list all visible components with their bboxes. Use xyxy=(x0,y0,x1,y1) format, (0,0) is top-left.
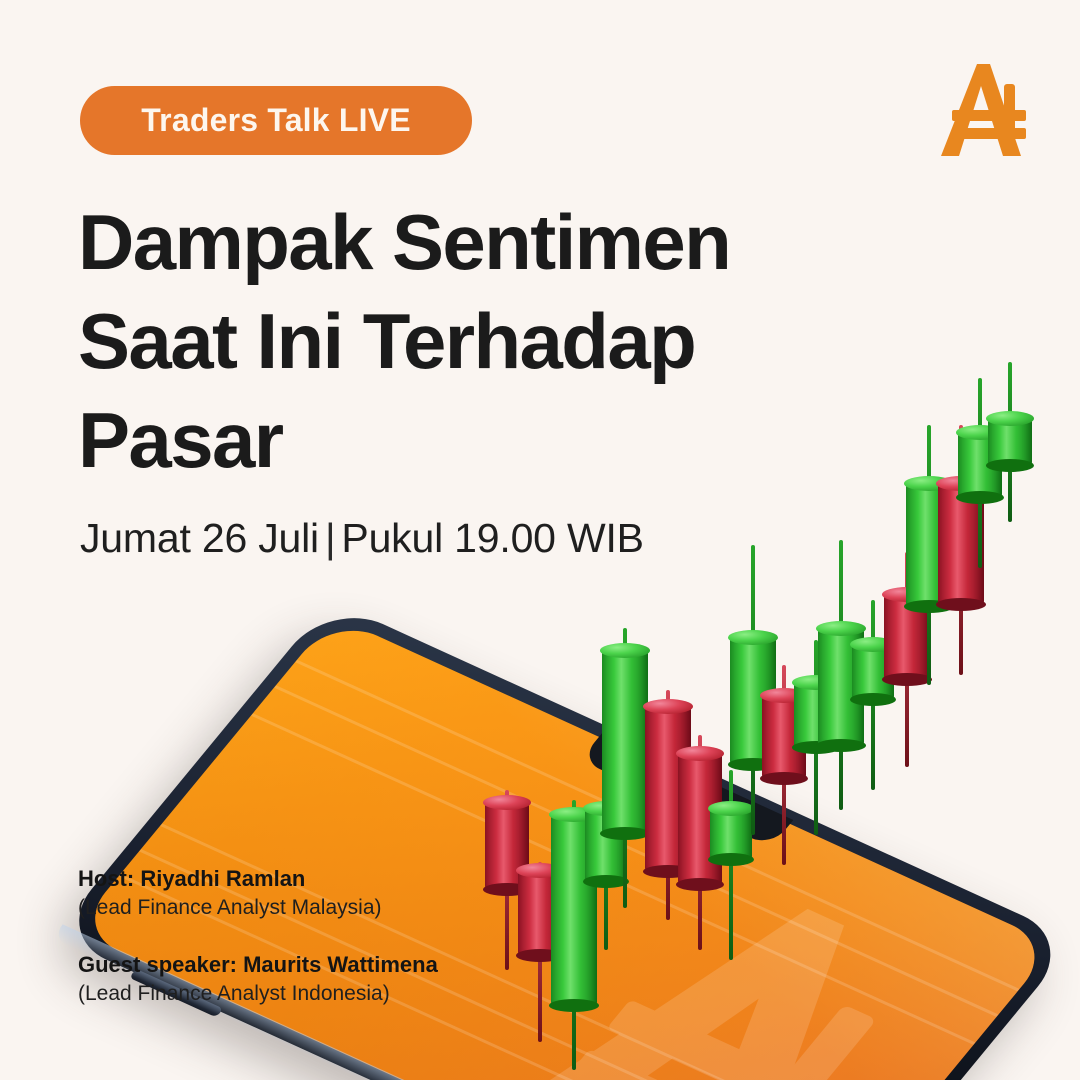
poster-canvas: Traders Talk LIVE Dampak Sentimen Saat I… xyxy=(0,0,1080,1080)
candle-18-bullish xyxy=(988,362,1032,522)
schedule-separator: | xyxy=(319,515,341,561)
schedule-time: Pukul 19.00 WIB xyxy=(341,515,643,561)
smartphone-mockup xyxy=(53,600,1076,1080)
live-session-badge: Traders Talk LIVE xyxy=(80,86,472,155)
phone-illustration xyxy=(330,600,1080,1080)
schedule-line: Jumat 26 Juli|Pukul 19.00 WIB xyxy=(80,515,644,562)
page-title-line-2: Saat Ini Terhadap xyxy=(78,292,808,391)
host-role: (Lead Finance Analyst Malaysia) xyxy=(78,896,438,920)
host-name: Host: Riyadhi Ramlan xyxy=(78,866,438,892)
live-session-badge-label: Traders Talk LIVE xyxy=(141,102,411,139)
candle-17-bullish xyxy=(958,378,1002,568)
schedule-date: Jumat 26 Juli xyxy=(80,515,319,561)
credits-block: Host: Riyadhi Ramlan (Lead Finance Analy… xyxy=(78,866,438,1006)
brand-logo-icon xyxy=(930,58,1036,162)
page-title: Dampak Sentimen Saat Ini Terhadap Pasar xyxy=(78,193,808,490)
page-title-line-1: Dampak Sentimen xyxy=(78,193,808,292)
guest-name: Guest speaker: Maurits Wattimena xyxy=(78,952,438,978)
guest-role: (Lead Finance Analyst Indonesia) xyxy=(78,982,438,1006)
page-title-line-3: Pasar xyxy=(78,391,808,490)
